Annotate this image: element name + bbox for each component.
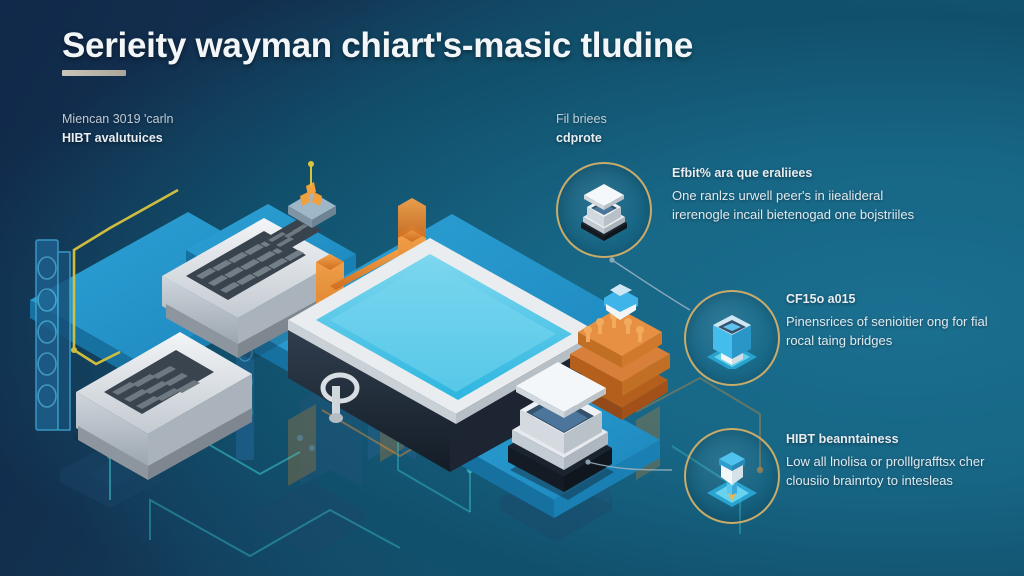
- item-1-body: One ranlzs urwell peer's in iiealideral …: [672, 186, 934, 224]
- machine-terminal-icon: [573, 179, 635, 241]
- right-column-header: Fil briees cdprote: [556, 110, 796, 148]
- infographic-canvas: Serieity wayman chiart's-masic tludine M…: [0, 0, 1024, 576]
- left-header-line2: HIBT avalutuices: [62, 129, 322, 148]
- background-machinery-cluster: [60, 368, 660, 556]
- blue-walkway-platforms: [30, 204, 660, 518]
- page-title: Serieity wayman chiart's-masic tludine: [62, 26, 882, 66]
- background-circuit-traces: [107, 372, 763, 556]
- item-3-body: Low all lnolisa or prolllgrafftsx cher c…: [786, 452, 1006, 490]
- item-3-text: HIBT beanntainess Low all lnolisa or pro…: [786, 432, 1006, 490]
- glowing-server-cube-icon: [701, 307, 763, 369]
- yellow-cable: [71, 190, 178, 364]
- lattice-mast-left: [36, 240, 254, 460]
- badge-circle-3: [684, 428, 780, 524]
- item-1-text: Efbit% ara que eraliiees One ranlzs urwe…: [672, 166, 934, 224]
- badge-circle-2: [684, 290, 780, 386]
- orange-stacked-platform: [570, 284, 670, 420]
- isometric-server-block-small: [72, 332, 252, 480]
- connector-lines: [585, 257, 690, 470]
- right-header-line2: cdprote: [556, 129, 796, 148]
- item-3-heading: HIBT beanntainess: [786, 432, 1006, 446]
- isometric-server-block-large: [162, 161, 354, 360]
- orange-pylon-tower-left: [316, 248, 406, 360]
- isometric-water-tank: [288, 238, 598, 472]
- title-underline: [62, 70, 126, 76]
- item-1-heading: Efbit% ara que eraliiees: [672, 166, 934, 180]
- machine-terminal-unit: [508, 362, 614, 500]
- roof-equipment: [288, 161, 336, 228]
- orange-pylon-tower-right: [398, 198, 426, 336]
- item-2-body: Pinensrices of senioitier ong for fial r…: [786, 312, 1006, 350]
- left-column-header: Miencan 3019 'carln HIBT avalutuices: [62, 110, 322, 148]
- badge-circle-1: [556, 162, 652, 258]
- right-header-line1: Fil briees: [556, 110, 796, 129]
- floating-shield-icon: [604, 284, 638, 320]
- beacon-tower-icon: [701, 445, 763, 507]
- item-2-text: CF15o a015 Pinensrices of senioitier ong…: [786, 292, 1006, 350]
- left-header-line1: Miencan 3019 'carln: [62, 110, 322, 129]
- tank-valve: [323, 375, 357, 423]
- item-2-heading: CF15o a015: [786, 292, 1006, 306]
